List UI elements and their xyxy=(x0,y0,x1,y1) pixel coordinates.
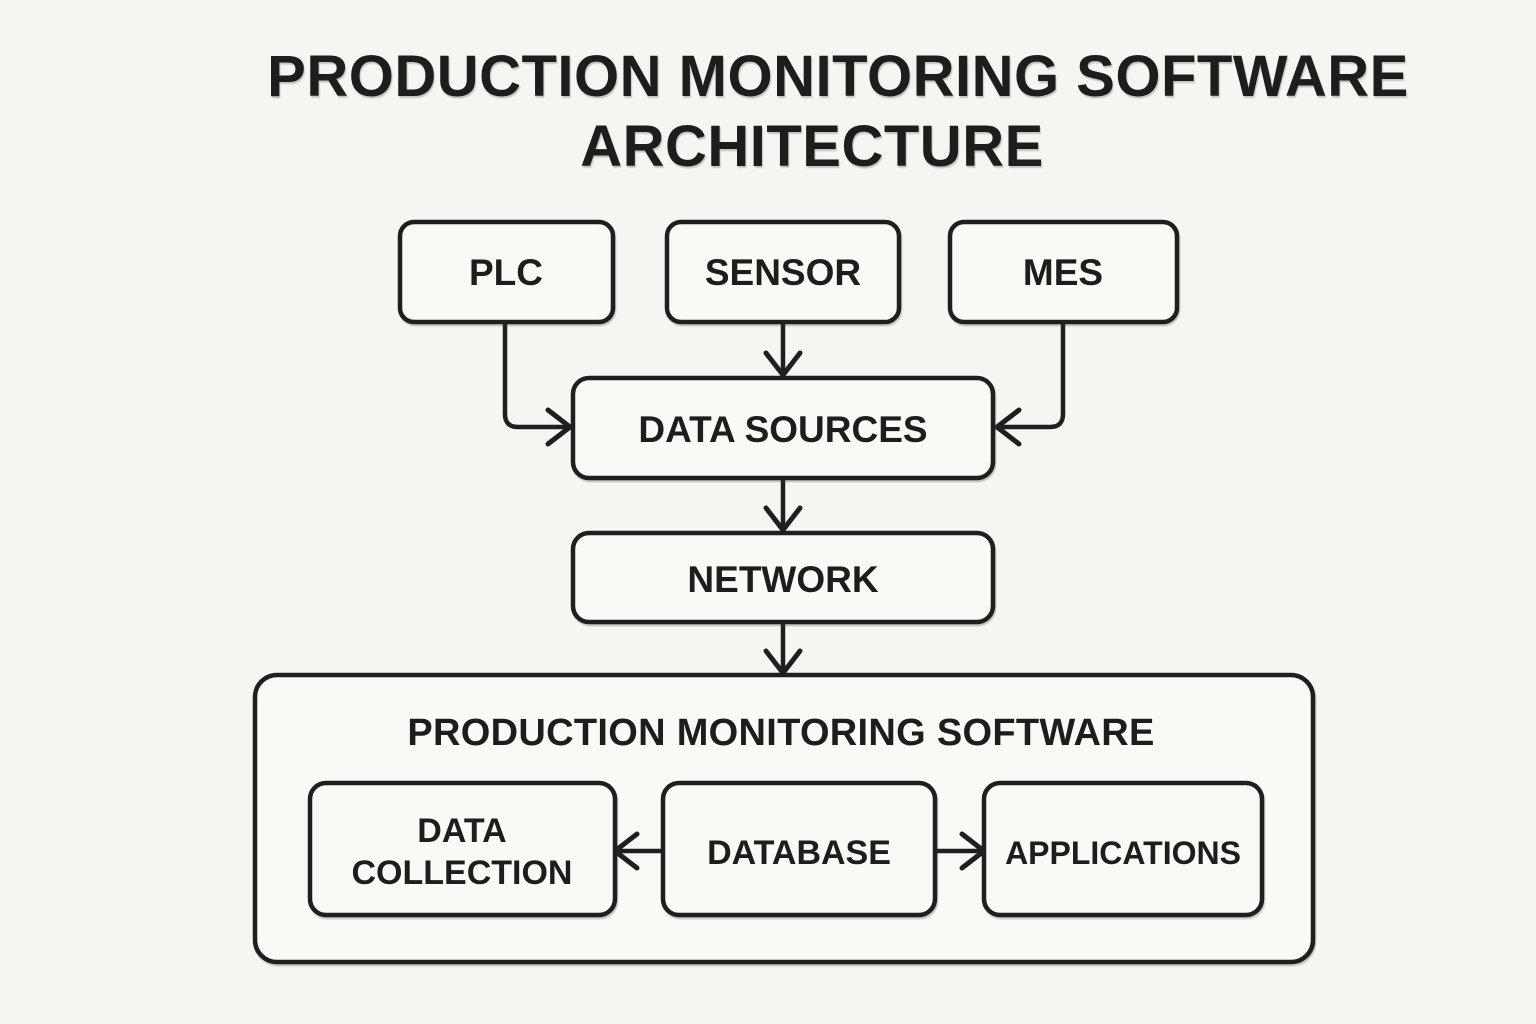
node-applications[interactable]: APPLICATIONS xyxy=(984,783,1262,915)
connector-mes-to-data-sources xyxy=(997,322,1063,444)
connector-network-to-software-group xyxy=(766,622,800,673)
node-data-collection-label-line-1: DATA xyxy=(417,812,506,850)
node-data-sources-label: DATA SOURCES xyxy=(638,409,927,450)
node-mes-label: MES xyxy=(1023,252,1103,293)
node-plc[interactable]: PLC xyxy=(400,222,613,322)
page-title-line-2: ARCHITECTURE xyxy=(580,114,1044,179)
node-data-sources[interactable]: DATA SOURCES xyxy=(573,378,993,478)
page-title-line-1: PRODUCTION MONITORING SOFTWARE xyxy=(267,44,1409,109)
page-title: PRODUCTION MONITORING SOFTWARE ARCHITECT… xyxy=(267,44,1409,179)
connector-plc-to-data-sources xyxy=(505,322,570,444)
node-data-collection[interactable]: DATA COLLECTION xyxy=(310,783,615,915)
node-applications-label: APPLICATIONS xyxy=(1005,835,1241,871)
node-network[interactable]: NETWORK xyxy=(573,533,993,622)
node-software-group-heading: PRODUCTION MONITORING SOFTWARE xyxy=(407,712,1154,754)
node-network-label: NETWORK xyxy=(687,559,878,600)
connector-sensor-to-data-sources xyxy=(766,322,800,375)
diagram-canvas: PRODUCTION MONITORING SOFTWARE ARCHITECT… xyxy=(0,0,1536,1024)
node-mes[interactable]: MES xyxy=(950,222,1177,322)
connector-data-sources-to-network xyxy=(766,478,800,530)
node-sensor[interactable]: SENSOR xyxy=(667,222,899,322)
node-plc-label: PLC xyxy=(469,252,543,293)
node-sensor-label: SENSOR xyxy=(705,252,861,293)
node-database[interactable]: DATABASE xyxy=(663,783,935,915)
node-database-label: DATABASE xyxy=(707,834,891,872)
node-data-collection-label-line-2: COLLECTION xyxy=(352,854,573,892)
